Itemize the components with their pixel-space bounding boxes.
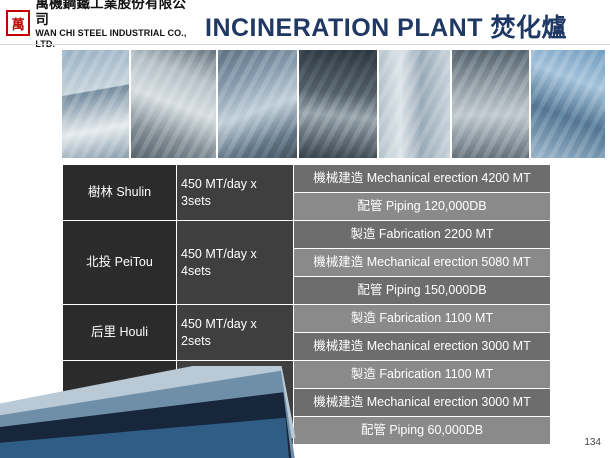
cell-capacity: 450 MT/day x 3sets xyxy=(177,165,294,221)
cell-scope-item: 配管 Piping 150,000DB xyxy=(294,277,551,305)
page-title: INCINERATION PLANT 焚化爐 xyxy=(205,8,605,40)
cell-site: 后里 Houli xyxy=(63,305,177,361)
cell-scope-item: 製造 Fabrication 2200 MT xyxy=(294,221,551,249)
photo-chimney-striped xyxy=(379,50,450,158)
photo-factory-building xyxy=(62,50,129,158)
photo-steel-truss-sky xyxy=(531,50,605,158)
cell-scope-item: 製造 Fabrication 1100 MT xyxy=(294,305,551,333)
cell-capacity: 450 MT/day x 2sets xyxy=(177,305,294,361)
page-title-en: INCINERATION PLANT xyxy=(205,14,483,42)
company-logo-block: 萬 萬機鋼鐵工業股份有限公司 WAN CHI STEEL INDUSTRIAL … xyxy=(6,6,196,40)
table-row: 后里 Houli 450 MT/day x 2sets 製造 Fabricati… xyxy=(63,305,551,333)
table-row: 樹林 Shulin 450 MT/day x 3sets 機械建造 Mechan… xyxy=(63,165,551,193)
photo-brick-chimney xyxy=(452,50,529,158)
table-row: 北投 PeiTou 450 MT/day x 4sets 製造 Fabricat… xyxy=(63,221,551,249)
cell-scope-item: 機械建造 Mechanical erection 5080 MT xyxy=(294,249,551,277)
photo-strip xyxy=(62,50,605,158)
header-divider xyxy=(0,44,610,45)
decorative-ribbon xyxy=(0,366,300,458)
company-name-block: 萬機鋼鐵工業股份有限公司 WAN CHI STEEL INDUSTRIAL CO… xyxy=(35,0,196,49)
cell-scope-item: 機械建造 Mechanical erection 3000 MT xyxy=(294,333,551,361)
photo-dark-facade xyxy=(299,50,376,158)
cell-site: 樹林 Shulin xyxy=(63,165,177,221)
cell-site: 北投 PeiTou xyxy=(63,221,177,305)
company-name-en: WAN CHI STEEL INDUSTRIAL CO., LTD. xyxy=(35,28,196,49)
photo-steel-structure-blue xyxy=(218,50,297,158)
page-title-cn: 焚化爐 xyxy=(490,13,567,42)
cell-scope-item: 配管 Piping 60,000DB xyxy=(294,417,551,445)
company-logo-icon: 萬 xyxy=(6,10,30,36)
cell-capacity: 450 MT/day x 4sets xyxy=(177,221,294,305)
cell-scope-item: 機械建造 Mechanical erection 3000 MT xyxy=(294,389,551,417)
cell-scope-item: 製造 Fabrication 1100 MT xyxy=(294,361,551,389)
page-number: 134 xyxy=(584,437,601,448)
cell-scope-item: 機械建造 Mechanical erection 4200 MT xyxy=(294,165,551,193)
photo-steel-beams xyxy=(131,50,216,158)
cell-scope-item: 配管 Piping 120,000DB xyxy=(294,193,551,221)
company-name-cn: 萬機鋼鐵工業股份有限公司 xyxy=(35,0,196,28)
